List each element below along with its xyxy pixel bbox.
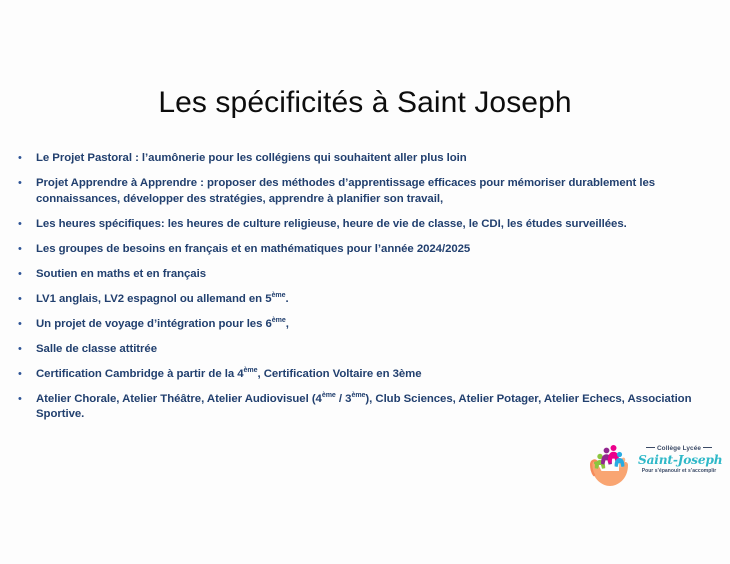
- logo-rule-right: [703, 447, 712, 448]
- bullet-text: Certification Cambridge à partir de la 4…: [36, 367, 704, 383]
- bullet-text: Soutien en maths et en français: [36, 267, 704, 283]
- bullet-marker-icon: •: [14, 292, 36, 308]
- logo-top-label: Collège Lycée: [657, 445, 701, 452]
- school-logo: Collège Lycée Saint-Joseph Pour s’épanou…: [586, 441, 720, 489]
- bullet-text: Atelier Chorale, Atelier Théâtre, Atelie…: [36, 392, 704, 423]
- bullet-marker-icon: •: [14, 151, 36, 167]
- bullet-item-apprendre-a-apprendre: •Projet Apprendre à Apprendre : proposer…: [14, 176, 704, 207]
- bullet-item-groupes-de-besoins: •Les groupes de besoins en français et e…: [14, 242, 704, 258]
- bullet-item-soutien: •Soutien en maths et en français: [14, 267, 704, 283]
- bullet-marker-icon: •: [14, 217, 36, 233]
- bullet-marker-icon: •: [14, 242, 36, 258]
- bullet-item-ateliers: •Atelier Chorale, Atelier Théâtre, Ateli…: [14, 392, 704, 423]
- bullet-item-salle-de-classe: •Salle de classe attitrée: [14, 342, 704, 358]
- saint-joseph-hand-figures-logo: [586, 441, 634, 487]
- bullet-marker-icon: •: [14, 267, 36, 283]
- bullet-text: Salle de classe attitrée: [36, 342, 704, 358]
- bullet-text: LV1 anglais, LV2 espagnol ou allemand en…: [36, 292, 704, 308]
- bullet-item-certifications: •Certification Cambridge à partir de la …: [14, 367, 704, 383]
- logo-top-line: Collège Lycée: [638, 444, 720, 453]
- bullet-text: Les heures spécifiques: les heures de cu…: [36, 217, 704, 233]
- bullet-marker-icon: •: [14, 367, 36, 383]
- bullet-text: Le Projet Pastoral : l’aumônerie pour le…: [36, 151, 704, 167]
- bullet-marker-icon: •: [14, 176, 36, 192]
- logo-school-name: Saint-Joseph: [638, 453, 720, 467]
- bullet-marker-icon: •: [14, 342, 36, 358]
- page-title: Les spécificités à Saint Joseph: [0, 86, 730, 121]
- bullet-text: Projet Apprendre à Apprendre : proposer …: [36, 176, 704, 207]
- bullet-marker-icon: •: [14, 392, 36, 408]
- logo-rule-left: [646, 447, 655, 448]
- bullet-item-voyage-integration: •Un projet de voyage d’intégration pour …: [14, 317, 704, 333]
- bullet-list: •Le Projet Pastoral : l’aumônerie pour l…: [14, 151, 704, 432]
- logo-wordmark: Collège Lycée Saint-Joseph Pour s’épanou…: [638, 444, 720, 475]
- slide-canvas: Les spécificités à Saint Joseph •Le Proj…: [0, 0, 730, 564]
- bullet-marker-icon: •: [14, 317, 36, 333]
- bullet-item-heures-specifiques: •Les heures spécifiques: les heures de c…: [14, 217, 704, 233]
- bullet-text: Un projet de voyage d’intégration pour l…: [36, 317, 704, 333]
- bullet-item-langues-vivantes: •LV1 anglais, LV2 espagnol ou allemand e…: [14, 292, 704, 308]
- bullet-item-projet-pastoral: •Le Projet Pastoral : l’aumônerie pour l…: [14, 151, 704, 167]
- logo-tagline: Pour s’épanouir et s’accomplir: [638, 467, 720, 475]
- bullet-text: Les groupes de besoins en français et en…: [36, 242, 704, 258]
